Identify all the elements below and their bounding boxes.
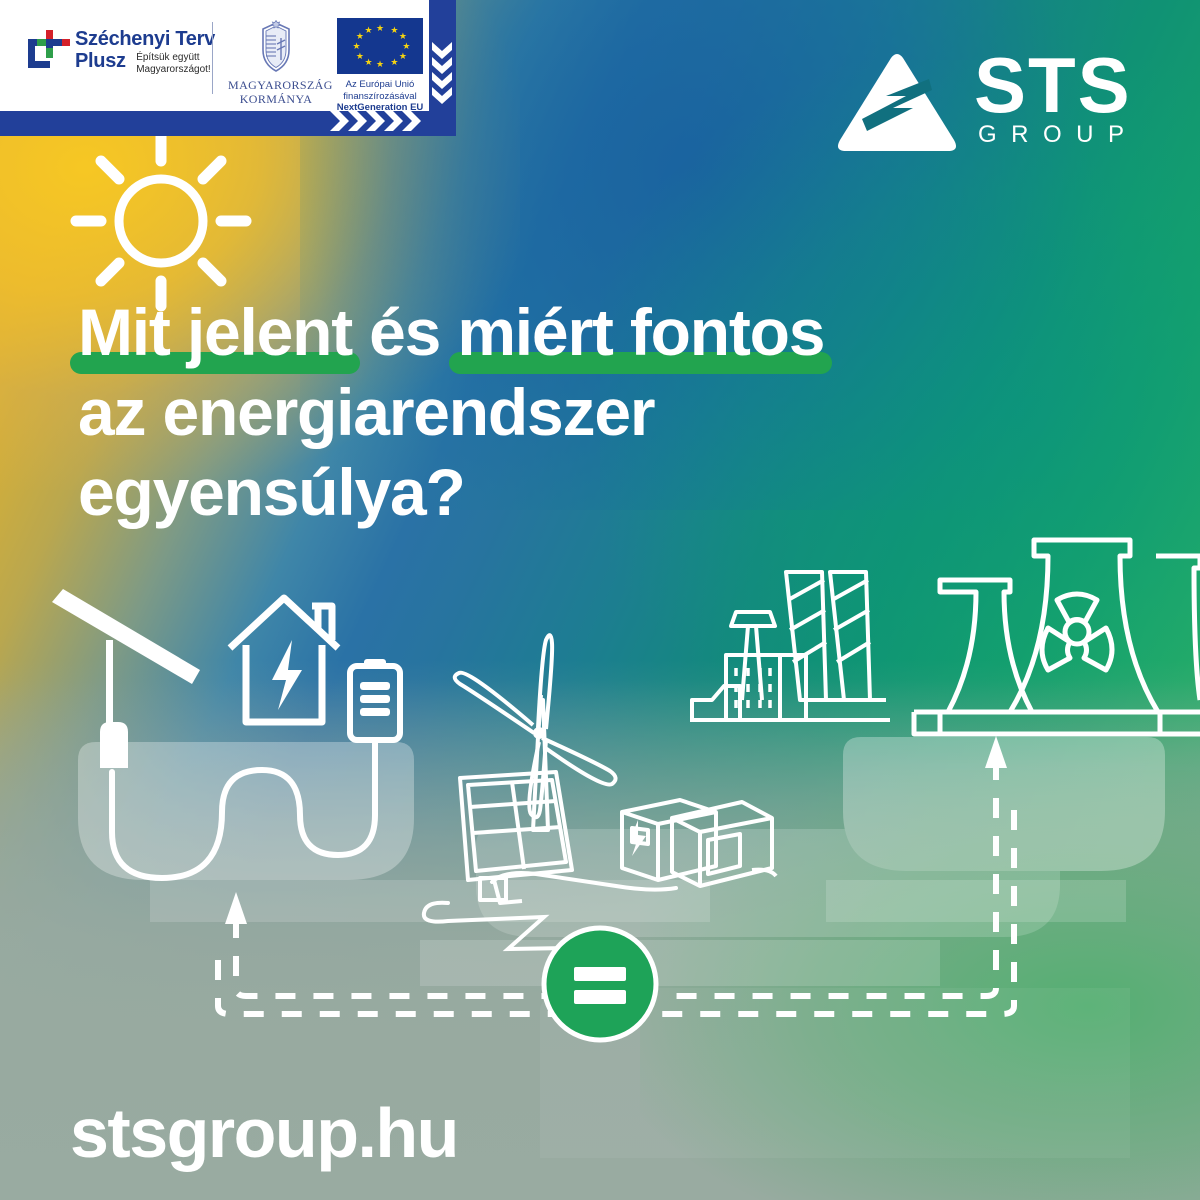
government-line2: KORMÁNYA [228, 92, 324, 106]
eu-funding-block: ★ ★ ★ ★ ★ ★ ★ ★ ★ ★ ★ ★ Az Európai Unió … [334, 18, 426, 114]
sun-icon [62, 128, 260, 314]
szechenyi-line2: Plusz [75, 50, 126, 72]
website-url[interactable]: stsgroup.hu [70, 1094, 458, 1172]
szechenyi-plus-mark-icon [26, 30, 70, 74]
sts-subtitle: GROUP [974, 122, 1139, 148]
eu-flag-icon: ★ ★ ★ ★ ★ ★ ★ ★ ★ ★ ★ ★ [337, 18, 423, 74]
sts-triangle-bolt-icon [836, 52, 958, 156]
sts-name: STS [974, 46, 1139, 124]
sts-group-logo[interactable]: STS GROUP [836, 46, 1156, 162]
government-logo: MAGYARORSZÁG KORMÁNYA [228, 20, 324, 106]
szechenyi-logo-text: Széchenyi Terv Plusz Építsük együtt Magy… [75, 28, 215, 76]
factory-smokestacks-icon [690, 572, 890, 720]
szechenyi-sub1: Építsük együtt [136, 52, 199, 63]
headline-mid-1: és [352, 295, 457, 369]
house-bolt-icon [272, 640, 302, 710]
headline-line-2: az energiarendszer [78, 372, 1028, 452]
battery-icon [350, 659, 400, 740]
szechenyi-logo: Széchenyi Terv Plusz Építsük együtt Magy… [26, 28, 194, 90]
headline-highlight-2: miért fontos [457, 292, 824, 372]
chevron-arrows-vertical-icon [430, 42, 454, 104]
szechenyi-sub2: Magyarországot! [136, 64, 210, 75]
radiation-symbol-icon [1042, 594, 1112, 670]
balance-fulcrum [544, 928, 656, 1040]
poster-root: Széchenyi Terv Plusz Építsük együtt Magy… [0, 0, 1200, 1200]
banner-white-card: Széchenyi Terv Plusz Építsük együtt Magy… [0, 0, 429, 111]
funding-banner: Széchenyi Terv Plusz Építsük együtt Magy… [0, 0, 456, 136]
headline: Mit jelent és miért fontos az energiaren… [78, 292, 1028, 532]
headline-line-1: Mit jelent és miért fontos [78, 292, 1028, 372]
government-line1: MAGYARORSZÁG [228, 78, 324, 92]
hungary-coat-of-arms-icon [255, 20, 297, 74]
nuclear-cooling-tower-icon [914, 540, 1200, 734]
szechenyi-sub: Építsük együtt Magyarországot! [136, 52, 210, 76]
eu-line2: finanszírozásával [334, 91, 426, 103]
street-lamp-icon [52, 589, 200, 768]
sts-wordmark: STS GROUP [974, 46, 1139, 148]
headline-line-3: egyensúlya? [78, 452, 1028, 532]
banner-divider [212, 22, 213, 94]
szechenyi-line1: Széchenyi Terv [75, 28, 215, 50]
headline-highlight-1: Mit jelent [78, 292, 352, 372]
chevron-arrows-horizontal-icon [330, 109, 438, 133]
eu-line1: Az Európai Unió [334, 79, 426, 91]
